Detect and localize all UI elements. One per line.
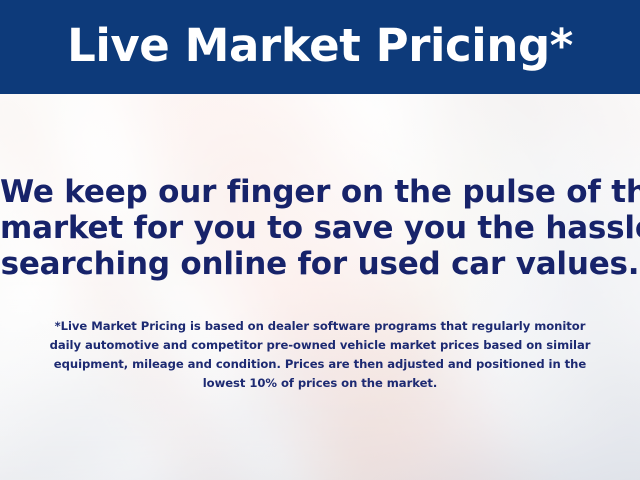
headline-line-3: searching online for used car values. [0,246,640,282]
headline-line-1: We keep our finger on the pulse of the [0,174,640,210]
page-title: Live Market Pricing* [67,23,573,71]
headline-line-2: market for you to save you the hassle of [0,210,640,246]
disclaimer-line-3: equipment, mileage and condition. Prices… [0,355,640,374]
header-band: Live Market Pricing* [0,0,640,94]
disclaimer-line-4: lowest 10% of prices on the market. [0,374,640,393]
disclaimer-line-2: daily automotive and competitor pre-owne… [0,336,640,355]
headline-text-block: We keep our finger on the pulse of the m… [0,174,640,282]
disclaimer-text-block: *Live Market Pricing is based on dealer … [0,317,640,393]
disclaimer-line-1: *Live Market Pricing is based on dealer … [0,317,640,336]
live-market-pricing-banner: Live Market Pricing* We keep our finger … [0,0,640,480]
